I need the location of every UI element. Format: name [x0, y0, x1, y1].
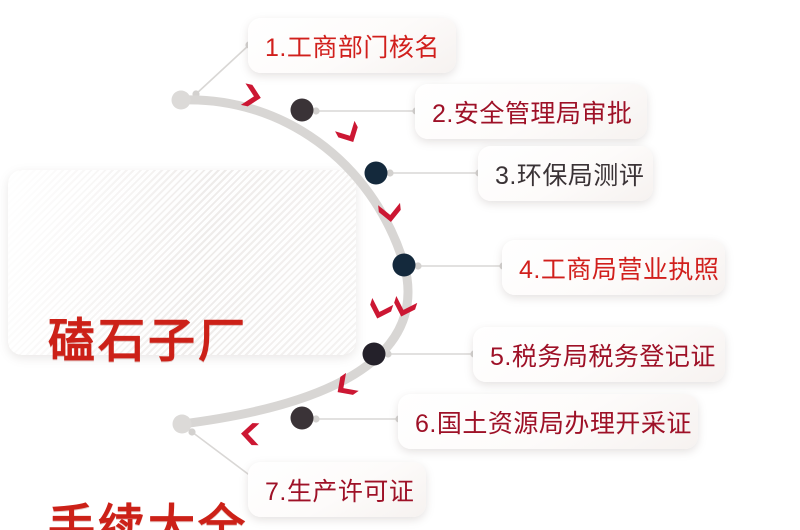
- step-node-4[interactable]: [393, 254, 416, 277]
- connector-dot-4-start: [414, 262, 421, 269]
- connector-line-1: [196, 45, 249, 94]
- step-label-1[interactable]: 1.工商部门核名: [248, 18, 456, 73]
- step-label-2[interactable]: 2.安全管理局审批: [415, 84, 647, 139]
- title-line-1: 磕石子厂: [48, 310, 348, 372]
- step-node-3[interactable]: [365, 162, 388, 185]
- step-label-6[interactable]: 6.国土资源局办理开采证: [398, 394, 698, 449]
- step-label-3[interactable]: 3.环保局测评: [478, 146, 653, 201]
- connector-dot-2-start: [312, 107, 319, 114]
- chevron-arrow-icon-5: [367, 298, 393, 322]
- step-label-4[interactable]: 4.工商局营业执照: [502, 240, 725, 295]
- arc-start-dot: [172, 91, 191, 110]
- chevron-arrow-icon-2: [335, 121, 363, 147]
- step-label-5[interactable]: 5.税务局税务登记证: [473, 327, 725, 382]
- step-label-7[interactable]: 7.生产许可证: [248, 462, 426, 517]
- step-node-2[interactable]: [291, 99, 314, 122]
- infographic-canvas: 磕石子厂 手续大全 1.工商部门核名2.安全管理局审批3.环保局测评4.工商局营…: [0, 0, 800, 530]
- step-node-5[interactable]: [363, 343, 386, 366]
